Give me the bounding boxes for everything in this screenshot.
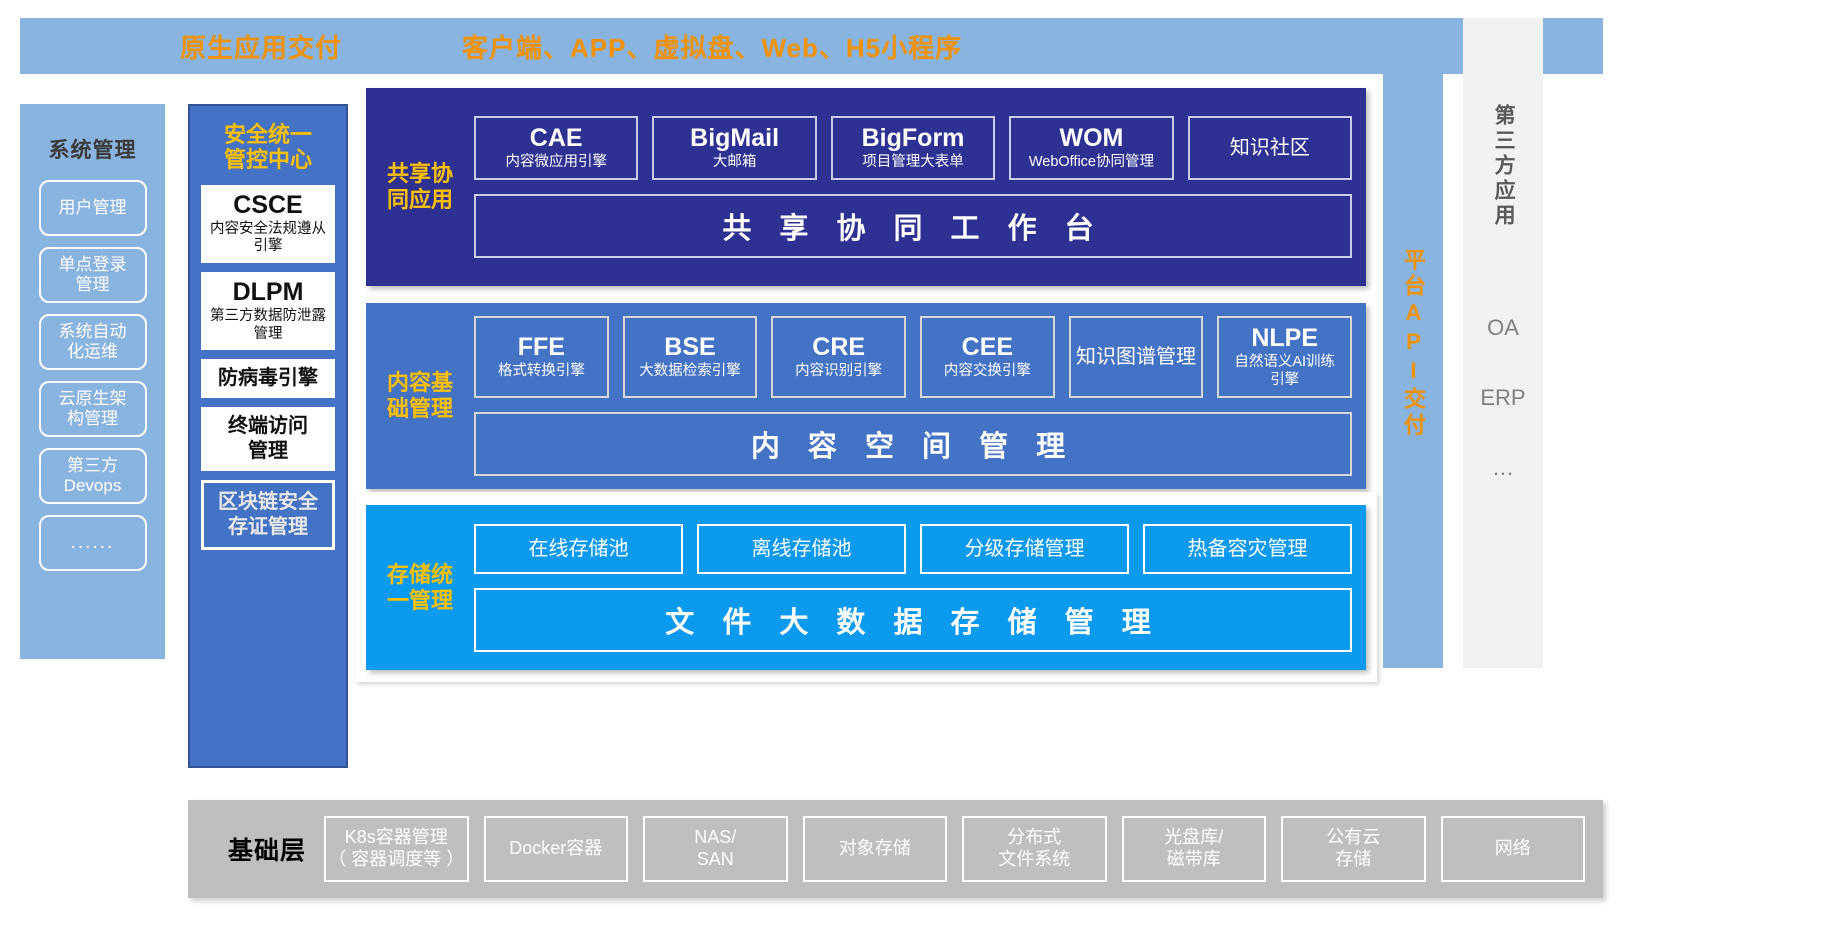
engine-card-code: CRE	[812, 334, 865, 362]
base-layer-title: 基础层	[228, 831, 306, 867]
engine-card-code: FFE	[518, 334, 565, 362]
sidebar-item-more[interactable]: ......	[39, 515, 147, 571]
system-management-column: 系统管理 用户管理 单点登录管理 系统自动化运维 云原生架构管理 第三方Devo…	[20, 104, 165, 659]
system-management-title: 系统管理	[49, 134, 137, 164]
security-control-title: 安全统一管控中心	[224, 122, 312, 173]
engine-card-desc: 内容识别引擎	[795, 363, 882, 380]
base-chip-label: 对象存储	[839, 838, 911, 860]
app-card-code: WOM	[1059, 125, 1123, 153]
sidebar-item-cloud-native-arch[interactable]: 云原生架构管理	[39, 381, 147, 437]
app-card-desc: 项目管理大表单	[862, 154, 964, 171]
storage-management-label: 存储统一管理	[366, 505, 474, 670]
banner-left-label: 原生应用交付	[180, 28, 342, 65]
security-item-code: CSCE	[233, 192, 302, 220]
sidebar-item-system-automation[interactable]: 系统自动化运维	[39, 314, 147, 370]
storage-card-offline-pool[interactable]: 离线存储池	[697, 524, 906, 574]
base-chip-label: 光盘库/磁带库	[1164, 827, 1223, 870]
base-layer: 基础层 K8s容器管理（ 容器调度等 ） Docker容器 NAS/SAN 对象…	[188, 800, 1603, 898]
engine-card-code: 知识图谱管理	[1076, 346, 1196, 368]
base-chip-nas-san[interactable]: NAS/SAN	[643, 816, 788, 882]
shared-collaboration-row: 共享协同应用 CAE 内容微应用引擎 BigMail 大邮箱 BigForm 项…	[366, 88, 1366, 286]
file-bigdata-storage-management[interactable]: 文 件 大 数 据 存 储 管 理	[474, 588, 1352, 652]
base-chip-label: 分布式文件系统	[998, 827, 1070, 870]
third-party-column: 第三方应用 OA ERP …	[1463, 18, 1543, 668]
engine-card-desc: 自然语义AI训练引擎	[1234, 354, 1335, 389]
app-card-wom[interactable]: WOM WebOffice协同管理	[1009, 116, 1173, 181]
security-item-blockchain-evidence[interactable]: 区块链安全存证管理	[201, 480, 335, 550]
third-party-title: 第三方应用	[1490, 104, 1516, 229]
third-party-item-more: …	[1492, 455, 1514, 481]
content-base-management-body: FFE 格式转换引擎 BSE 大数据检索引擎 CRE 内容识别引擎 CEE 内容…	[474, 303, 1366, 489]
platform-api-column: 平台API交付	[1383, 18, 1443, 668]
base-chip-docker[interactable]: Docker容器	[484, 816, 629, 882]
engine-card-code: NLPE	[1251, 325, 1318, 353]
sidebar-item-user-management[interactable]: 用户管理	[39, 180, 147, 236]
base-chip-optical-tape-library[interactable]: 光盘库/磁带库	[1122, 816, 1267, 882]
base-layer-chips: K8s容器管理（ 容器调度等 ） Docker容器 NAS/SAN 对象存储 分…	[324, 816, 1585, 882]
base-chip-label: Docker容器	[509, 838, 602, 860]
sidebar-item-label: 第三方Devops	[64, 456, 122, 496]
engine-card-cre[interactable]: CRE 内容识别引擎	[771, 316, 906, 398]
engine-card-bse[interactable]: BSE 大数据检索引擎	[623, 316, 758, 398]
security-item-desc: 第三方数据防泄露管理	[210, 308, 326, 343]
base-chip-label: NAS/SAN	[694, 827, 736, 870]
storage-card-label: 离线存储池	[752, 538, 852, 560]
shared-collaboration-label: 共享协同应用	[366, 88, 474, 286]
storage-management-row: 存储统一管理 在线存储池 离线存储池 分级存储管理 热备容灾管理 文 件 大 数…	[366, 505, 1366, 670]
security-item-terminal-access[interactable]: 终端访问管理	[201, 407, 335, 471]
security-item-code: 区块链安全存证管理	[218, 490, 318, 540]
engine-card-knowledge-graph[interactable]: 知识图谱管理	[1069, 316, 1204, 398]
content-base-management-row: 内容基础管理 FFE 格式转换引擎 BSE 大数据检索引擎 CRE 内容识别引擎…	[366, 303, 1366, 489]
security-item-code: 终端访问管理	[228, 414, 308, 464]
app-card-bigform[interactable]: BigForm 项目管理大表单	[831, 116, 995, 181]
third-party-item-oa: OA	[1487, 315, 1519, 341]
content-base-management-chips: FFE 格式转换引擎 BSE 大数据检索引擎 CRE 内容识别引擎 CEE 内容…	[474, 316, 1352, 398]
base-chip-public-cloud-storage[interactable]: 公有云存储	[1281, 816, 1426, 882]
base-chip-label: K8s容器管理（ 容器调度等 ）	[328, 827, 464, 870]
security-item-csce[interactable]: CSCE 内容安全法规遵从引擎	[201, 185, 335, 263]
storage-card-hot-backup-dr[interactable]: 热备容灾管理	[1143, 524, 1352, 574]
sidebar-item-sso-management[interactable]: 单点登录管理	[39, 247, 147, 303]
sidebar-item-label: 系统自动化运维	[59, 322, 127, 362]
sidebar-item-label: 单点登录管理	[59, 255, 127, 295]
storage-card-tiered-storage[interactable]: 分级存储管理	[920, 524, 1129, 574]
security-item-antivirus-engine[interactable]: 防病毒引擎	[201, 359, 335, 398]
app-card-desc: 大邮箱	[713, 154, 757, 171]
engine-card-ffe[interactable]: FFE 格式转换引擎	[474, 316, 609, 398]
engine-card-desc: 大数据检索引擎	[639, 363, 741, 380]
shared-collaboration-chips: CAE 内容微应用引擎 BigMail 大邮箱 BigForm 项目管理大表单 …	[474, 116, 1352, 181]
app-card-code: CAE	[530, 125, 583, 153]
engine-card-code: BSE	[664, 334, 715, 362]
shared-collaboration-body: CAE 内容微应用引擎 BigMail 大邮箱 BigForm 项目管理大表单 …	[474, 88, 1366, 286]
sidebar-item-label: 云原生架构管理	[59, 389, 127, 429]
app-card-desc: 内容微应用引擎	[505, 154, 607, 171]
engine-card-desc: 内容交换引擎	[944, 363, 1031, 380]
app-card-code: BigForm	[862, 125, 965, 153]
shared-collaboration-workbench[interactable]: 共 享 协 同 工 作 台	[474, 194, 1352, 258]
architecture-diagram: 原生应用交付 客户端、APP、虚拟盘、Web、H5小程序 系统管理 用户管理 单…	[0, 0, 1823, 928]
content-base-management-label: 内容基础管理	[366, 303, 474, 489]
sidebar-item-label: 用户管理	[59, 198, 127, 218]
base-chip-label: 公有云存储	[1326, 827, 1380, 870]
app-card-code: 知识社区	[1230, 137, 1310, 159]
engine-card-desc: 格式转换引擎	[498, 363, 585, 380]
third-party-item-erp: ERP	[1480, 385, 1525, 411]
platform-api-label: 平台API交付	[1397, 248, 1429, 439]
banner-right-label: 客户端、APP、虚拟盘、Web、H5小程序	[462, 28, 962, 65]
base-chip-object-storage[interactable]: 对象存储	[803, 816, 948, 882]
top-banner: 原生应用交付 客户端、APP、虚拟盘、Web、H5小程序	[20, 18, 1603, 74]
base-chip-network[interactable]: 网络	[1441, 816, 1586, 882]
storage-card-label: 热备容灾管理	[1188, 538, 1308, 560]
storage-management-chips: 在线存储池 离线存储池 分级存储管理 热备容灾管理	[474, 524, 1352, 574]
sidebar-item-label: ......	[71, 532, 115, 554]
app-card-knowledge-community[interactable]: 知识社区	[1188, 116, 1352, 181]
storage-card-label: 分级存储管理	[965, 538, 1085, 560]
engine-card-cee[interactable]: CEE 内容交换引擎	[920, 316, 1055, 398]
engine-card-nlpe[interactable]: NLPE 自然语义AI训练引擎	[1217, 316, 1352, 398]
base-chip-distributed-fs[interactable]: 分布式文件系统	[962, 816, 1107, 882]
engine-card-code: CEE	[962, 334, 1013, 362]
security-item-code: DLPM	[233, 279, 304, 307]
app-card-code: BigMail	[690, 125, 779, 153]
storage-card-label: 在线存储池	[529, 538, 629, 560]
app-card-cae[interactable]: CAE 内容微应用引擎	[474, 116, 638, 181]
security-item-desc: 内容安全法规遵从引擎	[210, 221, 326, 256]
security-item-code: 防病毒引擎	[218, 366, 318, 391]
base-chip-label: 网络	[1495, 838, 1531, 860]
app-card-bigmail[interactable]: BigMail 大邮箱	[652, 116, 816, 181]
content-space-management[interactable]: 内 容 空 间 管 理	[474, 412, 1352, 476]
storage-card-online-pool[interactable]: 在线存储池	[474, 524, 683, 574]
sidebar-item-third-party-devops[interactable]: 第三方Devops	[39, 448, 147, 504]
storage-management-body: 在线存储池 离线存储池 分级存储管理 热备容灾管理 文 件 大 数 据 存 储 …	[474, 505, 1366, 670]
security-control-column: 安全统一管控中心 CSCE 内容安全法规遵从引擎 DLPM 第三方数据防泄露管理…	[188, 104, 348, 768]
app-card-desc: WebOffice协同管理	[1029, 154, 1154, 171]
base-chip-k8s[interactable]: K8s容器管理（ 容器调度等 ）	[324, 816, 469, 882]
security-item-dlpm[interactable]: DLPM 第三方数据防泄露管理	[201, 272, 335, 350]
